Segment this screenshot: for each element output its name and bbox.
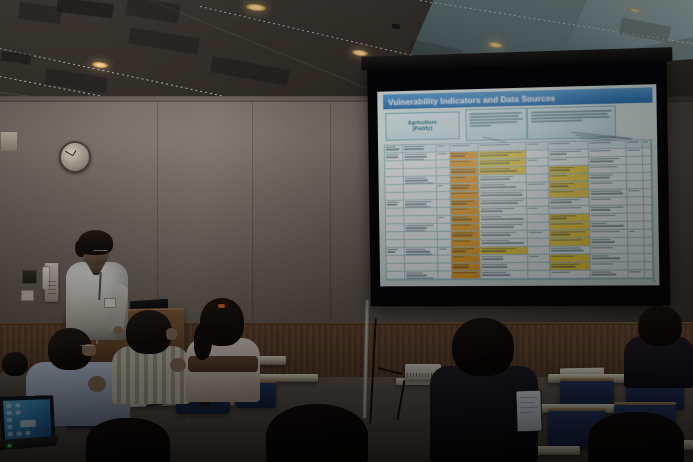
table-cell bbox=[480, 223, 528, 231]
table-cell bbox=[550, 254, 591, 262]
table-cell bbox=[386, 232, 404, 240]
table-cell bbox=[528, 255, 550, 263]
table-cell bbox=[628, 246, 645, 254]
table-cell bbox=[528, 223, 550, 231]
table-cell bbox=[527, 150, 549, 158]
table-cell bbox=[437, 176, 450, 184]
table-cell bbox=[452, 271, 481, 279]
table-cell bbox=[590, 254, 628, 262]
table-cell bbox=[589, 214, 627, 223]
slide-data-table bbox=[384, 139, 655, 280]
table-cell bbox=[387, 264, 405, 272]
wall-panel-dark bbox=[22, 270, 37, 284]
projection-screen: Vulnerability Indicators and Data Source… bbox=[367, 57, 670, 306]
table-cell bbox=[549, 238, 590, 246]
table-cell bbox=[480, 255, 528, 263]
table-cell bbox=[404, 248, 438, 256]
table-cell bbox=[643, 181, 651, 189]
table-cell bbox=[588, 149, 626, 158]
table-cell bbox=[451, 231, 480, 239]
attendee-head bbox=[86, 418, 170, 462]
table-cell bbox=[438, 240, 451, 248]
attendee-head bbox=[266, 404, 368, 462]
table-cell bbox=[528, 215, 550, 223]
table-cell bbox=[590, 270, 628, 278]
table-cell bbox=[548, 174, 589, 183]
table-cell bbox=[481, 263, 529, 271]
table-cell bbox=[438, 216, 451, 224]
table-cell bbox=[548, 158, 589, 167]
table-cell bbox=[644, 205, 652, 213]
table-cell bbox=[589, 206, 627, 215]
attendee-hairclip bbox=[218, 304, 225, 308]
ceiling-tile bbox=[127, 26, 201, 55]
table-cell bbox=[527, 158, 549, 166]
table-cell bbox=[386, 240, 404, 248]
table-cell bbox=[438, 200, 451, 208]
table-cell bbox=[548, 166, 589, 175]
keypad-icon bbox=[48, 281, 56, 297]
attendee-head bbox=[2, 352, 28, 376]
table-cell bbox=[643, 165, 651, 173]
table-cell bbox=[386, 201, 404, 209]
wall-light-switch-plate[interactable] bbox=[0, 131, 18, 151]
table-cell bbox=[528, 263, 550, 271]
table-cell bbox=[480, 207, 528, 216]
table-cell bbox=[437, 168, 450, 176]
table-cell bbox=[589, 197, 627, 206]
table-cell bbox=[590, 230, 628, 238]
table-cell bbox=[528, 247, 550, 255]
table-cell bbox=[452, 255, 481, 263]
table-header-cell bbox=[643, 140, 651, 148]
table-header-cell bbox=[548, 142, 589, 151]
table-header-cell bbox=[526, 142, 548, 150]
table-cell bbox=[589, 157, 627, 166]
table-header-cell bbox=[437, 144, 450, 152]
table-cell bbox=[451, 247, 480, 255]
attendee-foreground bbox=[266, 404, 368, 462]
wall-clock-icon bbox=[59, 141, 91, 173]
wall-outlet bbox=[21, 290, 34, 301]
slide-page-number: 5 bbox=[653, 278, 655, 283]
table-cell bbox=[527, 207, 549, 215]
screen-surface: Vulnerability Indicators and Data Source… bbox=[377, 84, 659, 286]
table-cell bbox=[644, 238, 652, 246]
slide-title-bar: Vulnerability Indicators and Data Source… bbox=[383, 87, 653, 109]
table-cell bbox=[628, 213, 645, 221]
table-cell bbox=[643, 156, 651, 164]
ceiling-air-vent bbox=[55, 0, 115, 19]
ceiling-air-vent bbox=[0, 50, 33, 66]
table-cell bbox=[528, 231, 550, 239]
attendee-plaid bbox=[112, 310, 190, 402]
ceiling-downlight bbox=[246, 3, 267, 12]
table-cell bbox=[527, 166, 549, 174]
table-cell bbox=[590, 238, 628, 246]
ceiling-tile bbox=[125, 0, 181, 24]
table-cell bbox=[405, 256, 439, 264]
presenter-badge bbox=[104, 298, 116, 308]
table-cell bbox=[386, 208, 404, 216]
table-cell bbox=[548, 150, 589, 159]
attendee-head bbox=[588, 412, 684, 462]
attendee-bottom-right bbox=[588, 412, 684, 462]
laptop-window bbox=[20, 420, 36, 428]
table-cell bbox=[452, 263, 481, 271]
table-cell bbox=[527, 174, 549, 182]
table-cell bbox=[550, 271, 591, 279]
attendee-head bbox=[638, 306, 682, 346]
attendee-head bbox=[452, 318, 514, 376]
attendee-right-back bbox=[624, 306, 693, 384]
table-cell bbox=[549, 190, 590, 199]
table-cell bbox=[644, 246, 652, 254]
table-cell bbox=[644, 189, 652, 197]
table-cell bbox=[437, 160, 450, 168]
laptop-wallpaper bbox=[3, 399, 52, 441]
table-cell bbox=[527, 199, 549, 207]
ceiling-tile bbox=[209, 55, 291, 87]
table-cell bbox=[438, 224, 451, 232]
table-cell bbox=[644, 230, 652, 238]
attendee-body bbox=[112, 346, 190, 404]
table-cell bbox=[549, 230, 590, 238]
table-cell bbox=[480, 231, 528, 239]
table-cell bbox=[527, 182, 549, 190]
presenter-hair-side bbox=[75, 240, 85, 257]
table-cell bbox=[438, 255, 451, 263]
slide-callout-right bbox=[527, 106, 616, 140]
table-cell bbox=[627, 189, 644, 197]
table-cell bbox=[437, 184, 450, 192]
table-cell bbox=[387, 272, 405, 280]
callout-leader-line bbox=[571, 132, 630, 139]
table-header-cell bbox=[588, 141, 626, 150]
projected-slide: Vulnerability Indicators and Data Source… bbox=[377, 84, 659, 286]
attendee-glasses-icon bbox=[80, 345, 95, 349]
table-cell bbox=[528, 271, 550, 279]
table-cell bbox=[386, 248, 404, 256]
attendee-hand bbox=[170, 358, 186, 372]
table-cell bbox=[386, 216, 404, 224]
table-cell bbox=[480, 239, 528, 247]
table-cell bbox=[439, 263, 452, 271]
table-cell bbox=[480, 247, 528, 255]
table-cell bbox=[590, 246, 628, 254]
foreground-laptop[interactable] bbox=[0, 395, 56, 450]
table-cell bbox=[589, 189, 627, 198]
attendee-laptop-screen bbox=[515, 390, 542, 433]
table-cell bbox=[549, 206, 590, 215]
table-cell bbox=[627, 205, 644, 213]
attendee-hand bbox=[88, 376, 106, 392]
table-cell bbox=[550, 246, 591, 254]
slide-subject-box: Agriculture (Paddy) bbox=[385, 111, 460, 140]
table-cell bbox=[590, 222, 628, 230]
table-cell bbox=[643, 148, 651, 156]
table-cell bbox=[590, 262, 628, 270]
attendee-ponytail-hair bbox=[194, 324, 212, 360]
table-cell bbox=[549, 214, 590, 223]
laptop-power-led-icon bbox=[7, 444, 11, 447]
table-cell bbox=[386, 224, 404, 232]
table-cell bbox=[405, 271, 439, 279]
table-cell bbox=[589, 173, 627, 182]
attendee-bottom-left bbox=[86, 418, 170, 462]
table-cell bbox=[437, 152, 450, 160]
slide-title: Vulnerability Indicators and Data Source… bbox=[383, 92, 555, 106]
table-cell bbox=[644, 213, 652, 221]
table-cell bbox=[549, 222, 590, 230]
table-cell bbox=[387, 256, 405, 264]
wall-intercom-icon[interactable] bbox=[44, 262, 59, 302]
table-cell bbox=[481, 271, 529, 279]
table-cell bbox=[451, 239, 480, 247]
table-cell bbox=[644, 221, 652, 229]
table-cell bbox=[645, 254, 653, 262]
table-cell bbox=[438, 208, 451, 216]
presentation-room-photo: Vulnerability Indicators and Data Source… bbox=[0, 0, 693, 462]
table-cell bbox=[550, 263, 591, 271]
attendee-ponytail bbox=[186, 298, 260, 402]
table-cell bbox=[528, 239, 550, 247]
table-cell bbox=[645, 262, 653, 270]
table-cell bbox=[645, 270, 653, 278]
attendee-face bbox=[166, 328, 177, 340]
table-cell bbox=[589, 181, 627, 190]
table-cell bbox=[627, 181, 644, 189]
table-cell bbox=[437, 192, 450, 200]
table-cell bbox=[386, 193, 404, 201]
table-cell bbox=[438, 232, 451, 240]
table-cell bbox=[549, 182, 590, 191]
clock-face bbox=[64, 146, 82, 164]
table-cell bbox=[439, 271, 452, 279]
slide-subject-line2: (Paddy) bbox=[412, 126, 432, 133]
table-cell bbox=[405, 264, 439, 272]
presenter-glasses-icon bbox=[93, 250, 108, 255]
table-cell bbox=[589, 165, 627, 174]
table-cell bbox=[549, 198, 590, 207]
slide-callout-left bbox=[465, 108, 527, 141]
attendee-laptop[interactable] bbox=[515, 390, 542, 433]
table-cell bbox=[643, 173, 651, 181]
table-cell bbox=[480, 215, 528, 224]
ceiling-speaker-icon bbox=[392, 23, 401, 29]
table-cell bbox=[438, 248, 451, 256]
